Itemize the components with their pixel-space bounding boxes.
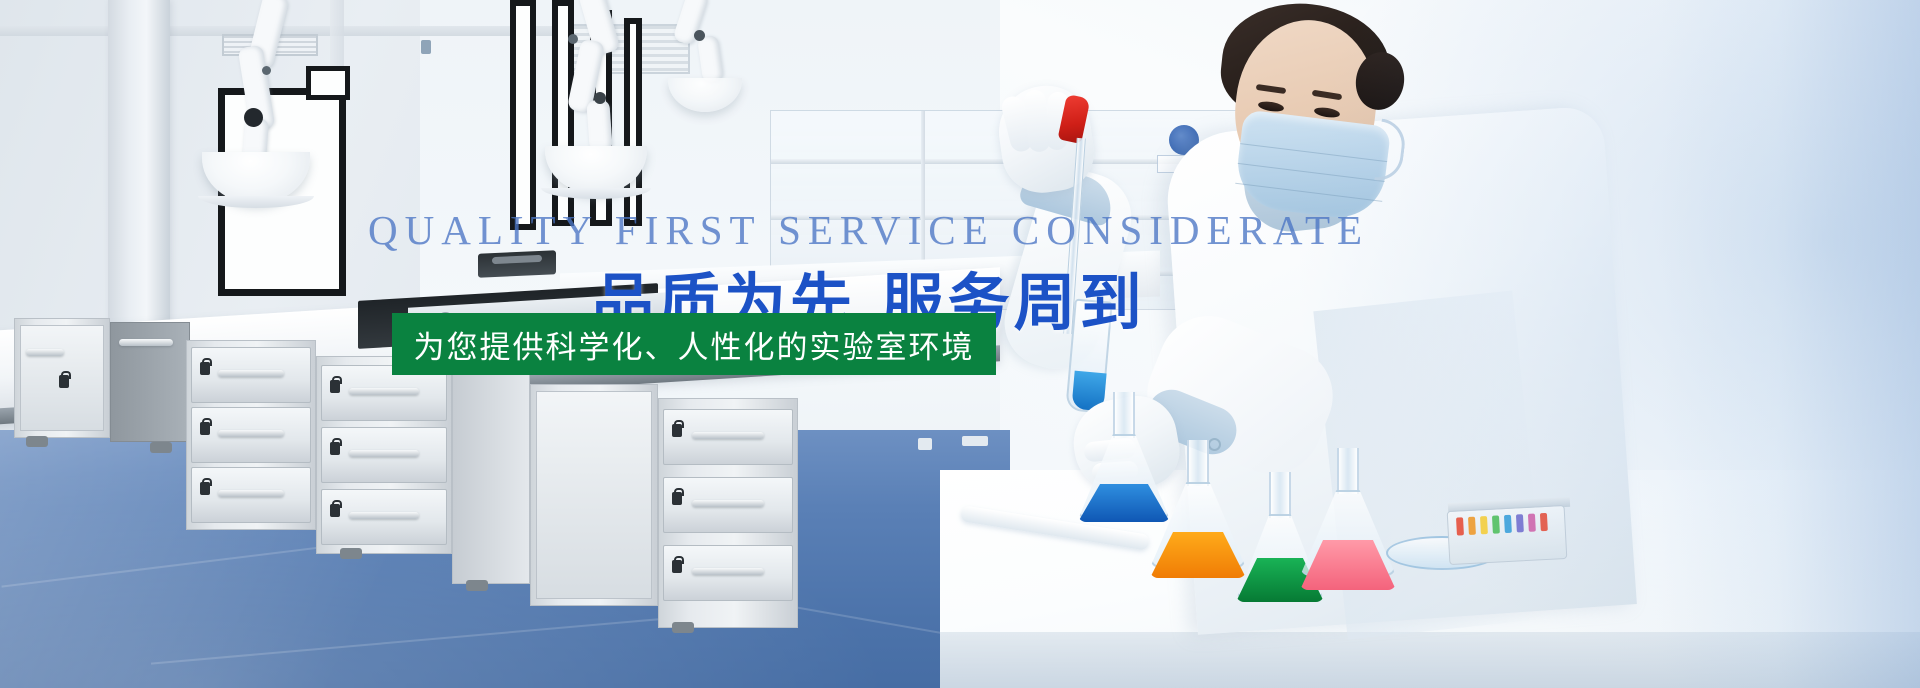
fume-arm-joint <box>244 108 263 127</box>
drawer-handle <box>218 370 284 377</box>
drawer-handle <box>692 432 764 439</box>
erlenmeyer-flask-orange <box>1150 440 1246 576</box>
cabinet-lock-icon <box>330 442 340 455</box>
subtitle-chinese: 为您提供科学化、人性化的实验室环境 <box>414 322 975 367</box>
drawer <box>191 467 311 523</box>
cabinet-lock-icon <box>330 504 340 517</box>
fume-arm-segment <box>586 99 613 152</box>
drawer-stack <box>186 340 316 530</box>
cabinet-side-panel <box>452 372 530 584</box>
under-bench-cabinet <box>14 318 110 438</box>
right-edge-gradient <box>1660 0 1920 688</box>
drawer <box>191 347 311 403</box>
drawer-handle <box>218 490 284 497</box>
drawer <box>321 489 447 545</box>
drawer-handle <box>692 568 764 575</box>
window-transom <box>306 66 350 100</box>
cabinet-caster <box>672 622 694 633</box>
promo-banner: QUALITY FIRST SERVICE CONSIDERATE 品质为先 服… <box>0 0 1920 688</box>
cabinet-caster <box>26 436 48 447</box>
drawer-handle <box>349 388 418 395</box>
flask-neck <box>1269 472 1291 518</box>
bench-small-item <box>918 438 932 450</box>
cabinet-door <box>536 391 652 599</box>
drawer-handle <box>26 349 64 356</box>
cabinet-lock-icon <box>59 375 69 388</box>
drawer-handle <box>218 430 284 437</box>
cabinet-caster <box>150 442 172 453</box>
drawer <box>663 409 793 465</box>
drawer <box>663 545 793 601</box>
drawer <box>663 477 793 533</box>
fume-arm-joint <box>262 66 271 75</box>
cabinet-caster <box>340 548 362 559</box>
drawer-stack <box>316 356 452 554</box>
drawer-handle <box>349 512 418 519</box>
cabinet-lock-icon <box>200 362 210 375</box>
subtitle-green-bar: 为您提供科学化、人性化的实验室环境 <box>392 313 996 375</box>
cabinet-door-unit <box>530 384 658 606</box>
cabinet-caster <box>466 580 488 591</box>
tagline-english: QUALITY FIRST SERVICE CONSIDERATE <box>368 206 1369 254</box>
cabinet-lock-icon <box>330 380 340 393</box>
fume-arm-joint <box>568 34 578 44</box>
flask-neck <box>1113 392 1135 438</box>
window-strip-1 <box>510 0 536 230</box>
flask-neck <box>1187 440 1209 486</box>
cabinet-lock-icon <box>200 422 210 435</box>
fume-arm-joint <box>594 92 606 104</box>
drawer-handle <box>349 450 418 457</box>
cabinet-lock-icon <box>672 424 682 437</box>
drawer-handle <box>119 339 174 346</box>
bench-small-item <box>962 436 988 446</box>
sprinkler-icon <box>421 40 431 54</box>
bench-instrument <box>478 250 556 277</box>
fume-arm-joint <box>694 30 705 41</box>
drawer-handle <box>692 500 764 507</box>
under-bench-open-bay <box>110 322 190 442</box>
drawer-stack <box>658 398 798 628</box>
cabinet-lock-icon <box>200 482 210 495</box>
drawer <box>191 407 311 463</box>
cabinet-lock-icon <box>672 560 682 573</box>
cabinet-lock-icon <box>672 492 682 505</box>
drawer <box>321 427 447 483</box>
